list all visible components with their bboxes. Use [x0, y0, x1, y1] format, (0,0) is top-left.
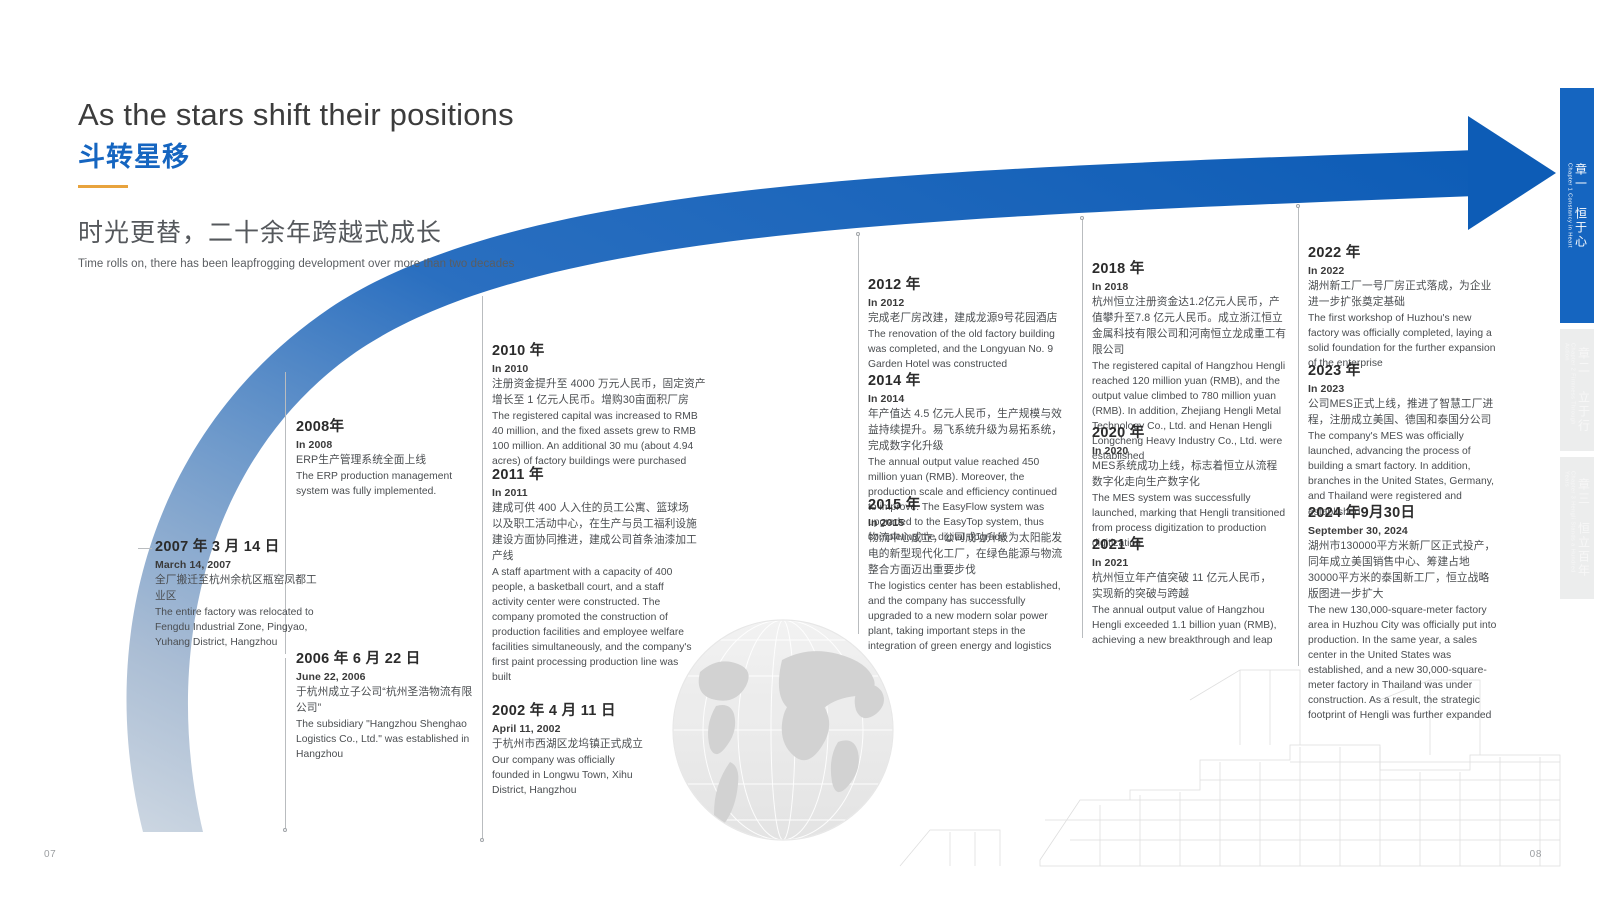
timeline-entry-2015: 2015 年 In 2015 物流中心成立，公司成功升级为太阳能发电的新型现代化…	[868, 496, 1066, 654]
timeline-entry-2022: 2022 年 In 2022 湖州新工厂一号厂房正式落成，为企业进一步扩张奠定基…	[1308, 244, 1500, 371]
leader-line-2002	[482, 700, 483, 840]
entry-body-zh: 杭州恒立注册资金达1.2亿元人民币，产值攀升至7.8 亿元人民币。成立浙江恒立金…	[1092, 295, 1288, 358]
entry-body-en: The subsidiary "Hangzhou Shenghao Logist…	[296, 717, 480, 762]
page-header: As the stars shift their positions 斗转星移 …	[78, 96, 718, 270]
entry-year-en: In 2010	[492, 362, 706, 376]
entry-body-en: The entire factory was relocated to Feng…	[155, 605, 323, 650]
entry-body-en: The registered capital was increased to …	[492, 409, 706, 470]
entry-year-en: In 2015	[868, 516, 1066, 530]
entry-body-zh: 湖州市130000平方米新厂区正式投产，同年成立美国销售中心、筹建占地30000…	[1308, 539, 1500, 602]
entry-year-en: In 2020	[1092, 444, 1288, 458]
leader-line-2006	[285, 658, 286, 830]
timeline-entry-2023: 2023 年 In 2023 公司MES正式上线，推进了智慧工厂进程，注册成立美…	[1308, 362, 1500, 520]
entry-body-zh: 全厂搬迁至杭州余杭区瓶窑凤都工业区	[155, 573, 323, 605]
entry-year-zh: 2015 年	[868, 496, 1066, 514]
entry-year-en: April 11, 2002	[492, 722, 652, 736]
title-underline-rule	[78, 185, 128, 188]
timeline-entry-2010: 2010 年 In 2010 注册资金提升至 4000 万元人民币，固定资产增长…	[492, 342, 706, 469]
entry-body-en: A staff apartment with a capacity of 400…	[492, 565, 698, 686]
page-title-chinese: 斗转星移	[78, 141, 718, 173]
leader-line-2018-2021	[1082, 218, 1083, 638]
chapter-tab-1[interactable]: 章一 恒于心 Chapter 1 Constancy in Heart	[1560, 88, 1594, 323]
entry-year-zh: 2008年	[296, 418, 476, 436]
entry-year-en: September 30, 2024	[1308, 524, 1500, 538]
entry-year-en: In 2018	[1092, 280, 1288, 294]
leader-dot-2022	[1296, 204, 1300, 208]
leader-dot-2012	[856, 232, 860, 236]
entry-body-en: Our company was officially founded in Lo…	[492, 753, 652, 798]
chapter-tab-3-label-en: Chapter 3 Hengli Stands a Hundred Years	[1564, 471, 1576, 585]
entry-year-zh: 2018 年	[1092, 260, 1288, 278]
timeline-entry-2006: 2006 年 6 月 22 日 June 22, 2006 于杭州成立子公司“杭…	[296, 650, 480, 762]
entry-year-en: March 14, 2007	[155, 558, 323, 572]
entry-body-zh: 注册资金提升至 4000 万元人民币，固定资产增长至 1 亿元人民币。增购30亩…	[492, 377, 706, 409]
entry-body-zh: 湖州新工厂一号厂房正式落成，为企业进一步扩张奠定基础	[1308, 279, 1500, 311]
entry-year-zh: 2024 年9月30日	[1308, 504, 1500, 522]
leader-line-2022-2024	[1298, 206, 1299, 666]
timeline-entry-2021: 2021 年 In 2021 杭州恒立年产值突破 11 亿元人民币，实现新的突破…	[1092, 536, 1280, 648]
leader-dot-2002	[480, 838, 484, 842]
timeline-entry-2020: 2020 年 In 2020 MES系统成功上线，标志着恒立从流程数字化走向生产…	[1092, 424, 1288, 551]
chapter-tab-rail: 章一 恒于心 Chapter 1 Constancy in Heart 章二 立…	[1554, 88, 1600, 605]
leader-line-2012-2015	[858, 234, 859, 634]
leader-dot-2006	[283, 828, 287, 832]
chapter-tab-3[interactable]: 章三 恒立百年 Chapter 3 Hengli Stands a Hundre…	[1560, 457, 1594, 599]
timeline-entry-2002: 2002 年 4 月 11 日 April 11, 2002 于杭州市西湖区龙坞…	[492, 702, 652, 799]
entry-body-zh: 建成可供 400 人入住的员工公寓、篮球场以及职工活动中心，在生产与员工福利设施…	[492, 501, 698, 564]
entry-year-zh: 2022 年	[1308, 244, 1500, 262]
entry-body-zh: 公司MES正式上线，推进了智慧工厂进程，注册成立美国、德国和泰国分公司	[1308, 397, 1500, 429]
entry-year-en: In 2011	[492, 486, 698, 500]
timeline-entry-2008: 2008年 In 2008 ERP生产管理系统全面上线 The ERP prod…	[296, 418, 476, 499]
leader-line-2010-2011	[482, 296, 483, 700]
page-root: As the stars shift their positions 斗转星移 …	[0, 0, 1600, 916]
entry-body-zh: MES系统成功上线，标志着恒立从流程数字化走向生产数字化	[1092, 459, 1288, 491]
entry-year-zh: 2006 年 6 月 22 日	[296, 650, 480, 668]
entry-body-zh: 物流中心成立，公司成功升级为太阳能发电的新型现代化工厂，在绿色能源与物流整合方面…	[868, 531, 1066, 578]
chapter-tab-2[interactable]: 章二 立于行 Chapter 2 Firmness Through Action	[1560, 329, 1594, 451]
entry-year-en: In 2023	[1308, 382, 1500, 396]
entry-year-zh: 2007 年 3 月 14 日	[155, 538, 323, 556]
entry-body-zh: ERP生产管理系统全面上线	[296, 453, 476, 469]
chapter-tab-2-label-en: Chapter 2 Firmness Through Action	[1564, 343, 1576, 437]
entry-body-zh: 完成老厂房改建，建成龙源9号花园酒店	[868, 311, 1068, 327]
entry-year-en: In 2012	[868, 296, 1068, 310]
timeline-entry-2024: 2024 年9月30日 September 30, 2024 湖州市130000…	[1308, 504, 1500, 724]
timeline-entry-2012: 2012 年 In 2012 完成老厂房改建，建成龙源9号花园酒店 The re…	[868, 276, 1068, 373]
entry-body-en: The new 130,000-square-meter factory are…	[1308, 603, 1500, 724]
entry-year-en: In 2022	[1308, 264, 1500, 278]
entry-body-en: The annual output value of Hangzhou Heng…	[1092, 603, 1280, 648]
entry-year-zh: 2002 年 4 月 11 日	[492, 702, 652, 720]
leader-line-2007	[138, 548, 152, 549]
entry-year-zh: 2020 年	[1092, 424, 1288, 442]
entry-body-en: The logistics center has been establishe…	[868, 579, 1066, 655]
chapter-tab-3-label-zh: 章三 恒立百年	[1576, 478, 1593, 578]
entry-year-en: June 22, 2006	[296, 670, 480, 684]
entry-year-en: In 2021	[1092, 556, 1280, 570]
entry-body-zh: 于杭州市西湖区龙坞镇正式成立	[492, 737, 652, 753]
entry-body-en: The renovation of the old factory buildi…	[868, 327, 1068, 372]
entry-year-en: In 2008	[296, 438, 476, 452]
page-subtitle-chinese: 时光更替，二十余年跨越式成长	[78, 218, 718, 249]
timeline-entry-2007: 2007 年 3 月 14 日 March 14, 2007 全厂搬迁至杭州余杭…	[155, 538, 323, 650]
entry-year-en: In 2014	[868, 392, 1066, 406]
entry-year-zh: 2012 年	[868, 276, 1068, 294]
entry-body-zh: 杭州恒立年产值突破 11 亿元人民币，实现新的突破与跨越	[1092, 571, 1280, 603]
entry-year-zh: 2021 年	[1092, 536, 1280, 554]
page-number-right: 08	[1530, 849, 1542, 860]
leader-dot-2018	[1080, 216, 1084, 220]
page-subtitle-english: Time rolls on, there has been leapfroggi…	[78, 258, 718, 270]
entry-year-zh: 2011 年	[492, 466, 698, 484]
timeline-entry-2011: 2011 年 In 2011 建成可供 400 人入住的员工公寓、篮球场以及职工…	[492, 466, 698, 686]
globe-illustration	[673, 620, 893, 840]
entry-year-zh: 2023 年	[1308, 362, 1500, 380]
entry-year-zh: 2014 年	[868, 372, 1066, 390]
entry-body-en: The ERP production management system was…	[296, 469, 476, 499]
page-title-english: As the stars shift their positions	[78, 96, 718, 133]
page-number-left: 07	[44, 849, 56, 860]
entry-body-zh: 年产值达 4.5 亿元人民币，生产规模与效益持续提升。易飞系统升级为易拓系统，完…	[868, 407, 1066, 454]
chapter-tab-1-label-zh: 章一 恒于心	[1573, 163, 1590, 249]
entry-year-zh: 2010 年	[492, 342, 706, 360]
chapter-tab-2-label-zh: 章二 立于行	[1576, 347, 1593, 433]
entry-body-zh: 于杭州成立子公司“杭州圣浩物流有限公司”	[296, 685, 480, 717]
